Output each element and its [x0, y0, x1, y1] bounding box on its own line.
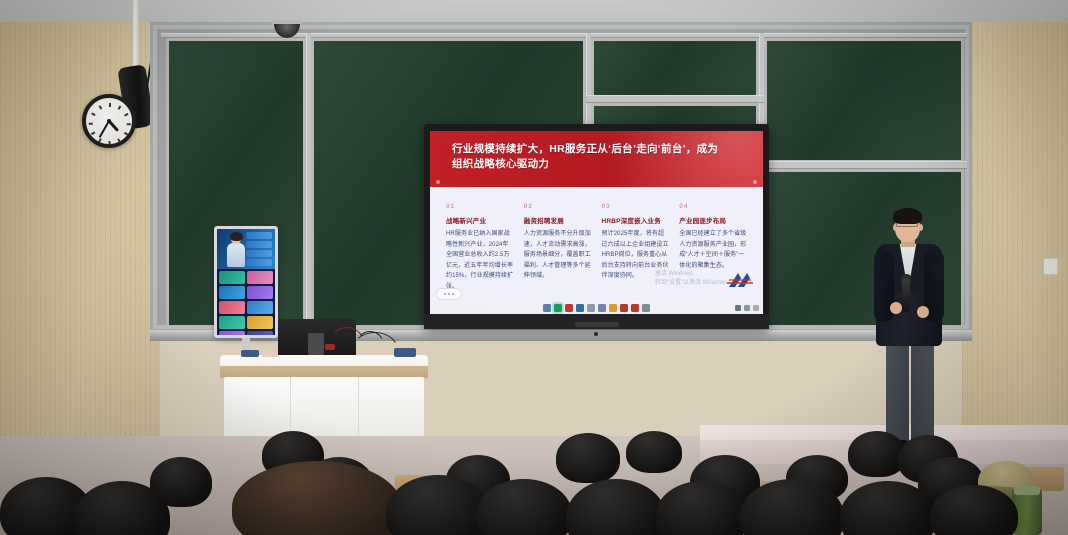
lecture-hall-scene: 行业规模持续扩大，HR服务正从‘后台’走向‘前台’，成为 组织战略核心驱动力 0…: [0, 0, 1068, 535]
presenter-hand-left: [890, 302, 902, 314]
windows-activation-watermark: 激活 Windows 转到“设置”以激活 Windows。: [655, 270, 733, 288]
clock-center-pin: [107, 119, 111, 123]
taskbar-app-icon[interactable]: [631, 304, 639, 312]
column-heading: 战略新兴产业: [446, 215, 514, 225]
taskbar-app-icon[interactable]: [565, 304, 573, 312]
slide-title-line-2: 组织战略核心驱动力: [452, 157, 749, 172]
kiosk-tile[interactable]: [247, 331, 273, 335]
interactive-flat-panel[interactable]: 行业规模持续扩大，HR服务正从‘后台’走向‘前台’，成为 组织战略核心驱动力 0…: [424, 124, 769, 329]
watermark-line-2: 转到“设置”以激活 Windows。: [655, 279, 733, 288]
panel-screen[interactable]: 行业规模持续扩大，HR服务正从‘后台’走向‘前台’，成为 组织战略核心驱动力 0…: [430, 131, 763, 314]
audience-head-foreground: [232, 461, 402, 535]
panel-brand-logo-icon: [575, 322, 619, 327]
audience-head: [848, 431, 906, 477]
monitor-stand: [308, 333, 324, 355]
panel-power-led: [594, 332, 598, 336]
column-number: 03: [602, 203, 670, 210]
vertical-touch-kiosk[interactable]: [214, 226, 278, 338]
kiosk-tile[interactable]: [219, 301, 245, 314]
audience: [0, 415, 1068, 535]
kiosk-tile[interactable]: [219, 331, 245, 335]
kiosk-tile[interactable]: [219, 316, 245, 329]
column-body: 全国已经建立了多个省级人力资源服务产业园，形成“人才＋空间＋服务”一体化的聚集生…: [679, 229, 747, 271]
presenter: [862, 206, 958, 450]
column-body: 人力资源服务不分升级加速，人才流动需求高涨，服务场景细分，覆盖职工福利、人才管理…: [524, 229, 592, 282]
audience-head: [556, 433, 620, 483]
company-logo-icon: [725, 270, 757, 292]
audience-head: [626, 431, 682, 473]
avatar: [226, 233, 246, 267]
right-wall: [962, 22, 1068, 452]
taskbar-tray[interactable]: [735, 305, 759, 311]
clock-minute-hand: [99, 121, 110, 138]
kiosk-tile[interactable]: [247, 316, 273, 329]
taskbar-app-icon[interactable]: [587, 304, 595, 312]
taskbar-app-icon[interactable]: [543, 304, 551, 312]
wall-clock: [82, 94, 136, 148]
kiosk-tile[interactable]: [219, 286, 245, 299]
taskbar-app-icon[interactable]: [620, 304, 628, 312]
kiosk-header: [217, 229, 275, 269]
column-number: 02: [524, 203, 592, 210]
clock-face: [88, 100, 130, 142]
title-dot-right: [753, 180, 757, 184]
wall-switch-plate[interactable]: [1043, 258, 1058, 275]
taskbar-app-icon[interactable]: [642, 304, 650, 312]
presenter-hand-right: [917, 306, 929, 318]
windows-taskbar[interactable]: [430, 302, 763, 314]
kiosk-tile[interactable]: [219, 271, 245, 284]
chalkboard-panel: [764, 38, 964, 163]
kiosk-menu-buttons[interactable]: [246, 232, 272, 268]
kiosk-menu-button[interactable]: [246, 250, 272, 257]
column-heading: HRBP深度嵌入业务: [602, 215, 670, 225]
column-heading: 产业园逐步布局: [679, 215, 747, 225]
panel-bezel-bottom: [424, 314, 769, 329]
microphone-base[interactable]: [241, 350, 259, 357]
presenter-hair: [893, 208, 922, 224]
kiosk-menu-button[interactable]: [246, 241, 272, 248]
tray-icon[interactable]: [744, 305, 750, 311]
taskbar-app-icon[interactable]: [609, 304, 617, 312]
audience-head: [476, 479, 572, 535]
kiosk-tile[interactable]: [247, 301, 273, 314]
slide-column: 01 战略新兴产业 HR服务业已纳入国家战略性新兴产业，2024年全国营业总收入…: [446, 203, 514, 292]
slide-title-banner: 行业规模持续扩大，HR服务正从‘后台’走向‘前台’，成为 组织战略核心驱动力: [430, 131, 763, 187]
watermark-line-1: 激活 Windows: [655, 270, 733, 279]
microphone-base[interactable]: [394, 348, 416, 357]
tray-icon[interactable]: [753, 305, 759, 311]
taskbar-app-group[interactable]: [543, 304, 650, 312]
column-number: 04: [679, 203, 747, 210]
presentation-slide: 行业规模持续扩大，HR服务正从‘后台’走向‘前台’，成为 组织战略核心驱动力 0…: [430, 131, 763, 314]
tray-icon[interactable]: [735, 305, 741, 311]
kiosk-tile[interactable]: [247, 286, 273, 299]
column-body: HR服务业已纳入国家战略性新兴产业，2024年全国营业总收入约2.5万亿元，近五…: [446, 229, 514, 292]
paper-sheet: [262, 352, 278, 357]
kiosk-tile[interactable]: [247, 271, 273, 284]
column-number: 01: [446, 203, 514, 210]
slide-title-line-1: 行业规模持续扩大，HR服务正从‘后台’走向‘前台’，成为: [452, 142, 749, 157]
chalkboard-panel: [591, 38, 759, 98]
taskbar-app-icon-active[interactable]: [554, 304, 562, 312]
kiosk-menu-button[interactable]: [246, 232, 272, 239]
kiosk-screen[interactable]: [217, 229, 275, 335]
taskbar-app-icon[interactable]: [598, 304, 606, 312]
slide-column: 02 融资招聘发展 人力资源服务不分升级加速，人才流动需求高涨，服务场景细分，覆…: [524, 203, 592, 292]
kiosk-menu-button[interactable]: [246, 259, 272, 266]
bottle-cap: [1014, 486, 1040, 495]
taskbar-app-icon[interactable]: [576, 304, 584, 312]
red-connector: [325, 344, 335, 350]
audience-head: [566, 479, 666, 535]
title-dot-left: [436, 180, 440, 184]
column-heading: 融资招聘发展: [524, 215, 592, 225]
slide-options-button[interactable]: [436, 288, 462, 300]
kiosk-tile-grid[interactable]: [217, 269, 275, 335]
